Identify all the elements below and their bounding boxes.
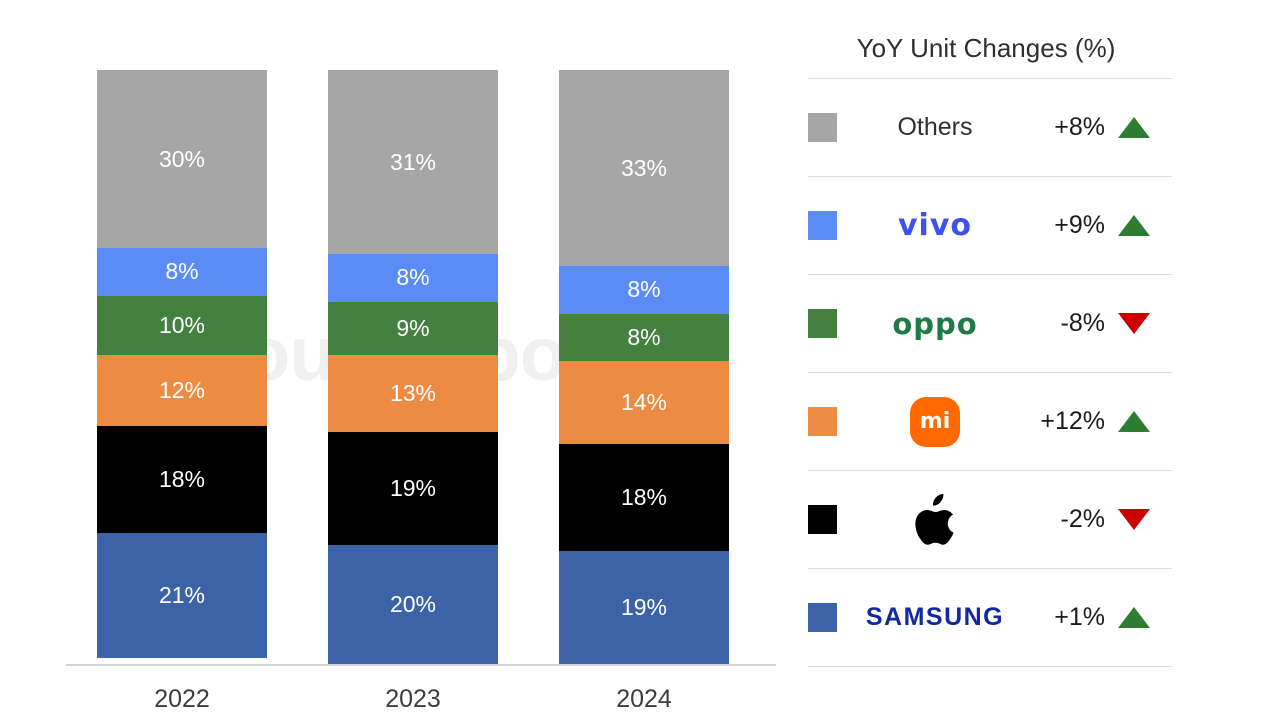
bar-column: 31%8%9%13%19%20%: [328, 70, 498, 664]
x-axis-tick-2023: 2023: [328, 685, 498, 714]
legend-row-apple[interactable]: -2%: [800, 471, 1190, 568]
trend-down-icon: [1111, 313, 1157, 334]
yoy-change-value: +1%: [1011, 603, 1111, 632]
bar-segment-label: 20%: [390, 593, 436, 616]
bar-segment: 8%: [97, 248, 267, 296]
bar-column: 33%8%8%14%18%19%: [559, 70, 729, 664]
bar-segment: 20%: [328, 545, 498, 664]
bar-segment: 30%: [97, 70, 267, 248]
bar-segment-label: 14%: [621, 391, 667, 414]
brand-logo-others: Others: [859, 104, 1011, 152]
bar-segment-label: 21%: [159, 584, 205, 607]
legend-row-vivo[interactable]: vivo+9%: [800, 177, 1190, 274]
bar-segment: 8%: [559, 266, 729, 314]
triangle-down: [1118, 313, 1150, 334]
trend-up-icon: [1111, 215, 1157, 236]
apple-logo-icon: [912, 494, 958, 546]
brand-logo-xiaomi: mi: [859, 398, 1011, 446]
brand-logo-apple: [859, 496, 1011, 544]
triangle-up: [1118, 215, 1150, 236]
bar-segment: 18%: [559, 444, 729, 551]
bar-segment: 19%: [559, 551, 729, 664]
legend-color-swatch: [808, 505, 837, 534]
yoy-change-value: -8%: [1011, 309, 1111, 338]
bar-column: 30%8%10%12%18%21%: [97, 70, 267, 664]
trend-up-icon: [1111, 411, 1157, 432]
legend-color-swatch: [808, 309, 837, 338]
bar-segment: 31%: [328, 70, 498, 254]
yoy-change-value: -2%: [1011, 505, 1111, 534]
bar-segment-label: 18%: [621, 486, 667, 509]
bar-segment-label: 10%: [159, 314, 205, 337]
bar-segment: 21%: [97, 533, 267, 658]
bar-segment: 12%: [97, 355, 267, 426]
brand-label: Others: [897, 113, 972, 142]
bar-segment-label: 12%: [159, 379, 205, 402]
bar-segment-label: 18%: [159, 468, 205, 491]
legend-row-samsung[interactable]: SAMSUNG+1%: [800, 569, 1190, 666]
trend-up-icon: [1111, 117, 1157, 138]
legend-divider: [808, 666, 1172, 667]
legend-color-swatch: [808, 211, 837, 240]
legend-color-swatch: [808, 603, 837, 632]
triangle-up: [1118, 411, 1150, 432]
stacked-bar-chart: 30%8%10%12%18%21%31%8%9%13%19%20%33%8%8%…: [0, 0, 790, 720]
x-axis-tick-2022: 2022: [97, 685, 267, 714]
triangle-up: [1118, 117, 1150, 138]
chart-plot-area: 30%8%10%12%18%21%31%8%9%13%19%20%33%8%8%…: [66, 70, 766, 664]
bar-segment: 8%: [328, 254, 498, 302]
brand-label: vivo: [898, 208, 972, 243]
bar-segment: 19%: [328, 432, 498, 545]
trend-down-icon: [1111, 509, 1157, 530]
bar-segment-label: 13%: [390, 382, 436, 405]
bar-segment-label: 19%: [390, 477, 436, 500]
brand-logo-samsung: SAMSUNG: [859, 594, 1011, 642]
x-axis-line: [66, 664, 776, 666]
x-axis-tick-2024: 2024: [559, 685, 729, 714]
bar-segment: 13%: [328, 355, 498, 432]
bar-segment-label: 30%: [159, 148, 205, 171]
bar-segment-label: 33%: [621, 157, 667, 180]
bar-segment: 10%: [97, 296, 267, 355]
bar-segment-label: 31%: [390, 151, 436, 174]
bar-segment-label: 8%: [396, 266, 429, 289]
bar-segment: 33%: [559, 70, 729, 266]
x-axis-tick-labels: 202220232024: [66, 678, 766, 720]
bar-segment-label: 8%: [627, 278, 660, 301]
bar-segment: 9%: [328, 302, 498, 355]
brand-label: SAMSUNG: [866, 603, 1004, 632]
brand-label: oppo: [892, 307, 977, 341]
legend-row-oppo[interactable]: oppo-8%: [800, 275, 1190, 372]
bar-segment: 8%: [559, 314, 729, 362]
trend-up-icon: [1111, 607, 1157, 628]
triangle-up: [1118, 607, 1150, 628]
legend-rows: Others+8%vivo+9%oppo-8%mi+12%-2%SAMSUNG+…: [800, 79, 1190, 667]
bar-segment-label: 8%: [165, 260, 198, 283]
bar-segment-label: 9%: [396, 317, 429, 340]
legend-row-xiaomi[interactable]: mi+12%: [800, 373, 1190, 470]
legend-title: YoY Unit Changes (%): [800, 18, 1190, 78]
legend-row-others[interactable]: Others+8%: [800, 79, 1190, 176]
yoy-change-value: +12%: [1011, 407, 1111, 436]
xiaomi-mi-icon: mi: [910, 397, 960, 447]
yoy-change-value: +9%: [1011, 211, 1111, 240]
yoy-change-value: +8%: [1011, 113, 1111, 142]
bar-segment-label: 19%: [621, 596, 667, 619]
bar-segment-label: 8%: [627, 326, 660, 349]
brand-logo-vivo: vivo: [859, 202, 1011, 250]
brand-logo-oppo: oppo: [859, 300, 1011, 348]
triangle-down: [1118, 509, 1150, 530]
bar-segment: 18%: [97, 426, 267, 533]
legend-color-swatch: [808, 407, 837, 436]
legend-panel: YoY Unit Changes (%) Others+8%vivo+9%opp…: [800, 18, 1190, 678]
bar-segment: 14%: [559, 361, 729, 444]
legend-color-swatch: [808, 113, 837, 142]
